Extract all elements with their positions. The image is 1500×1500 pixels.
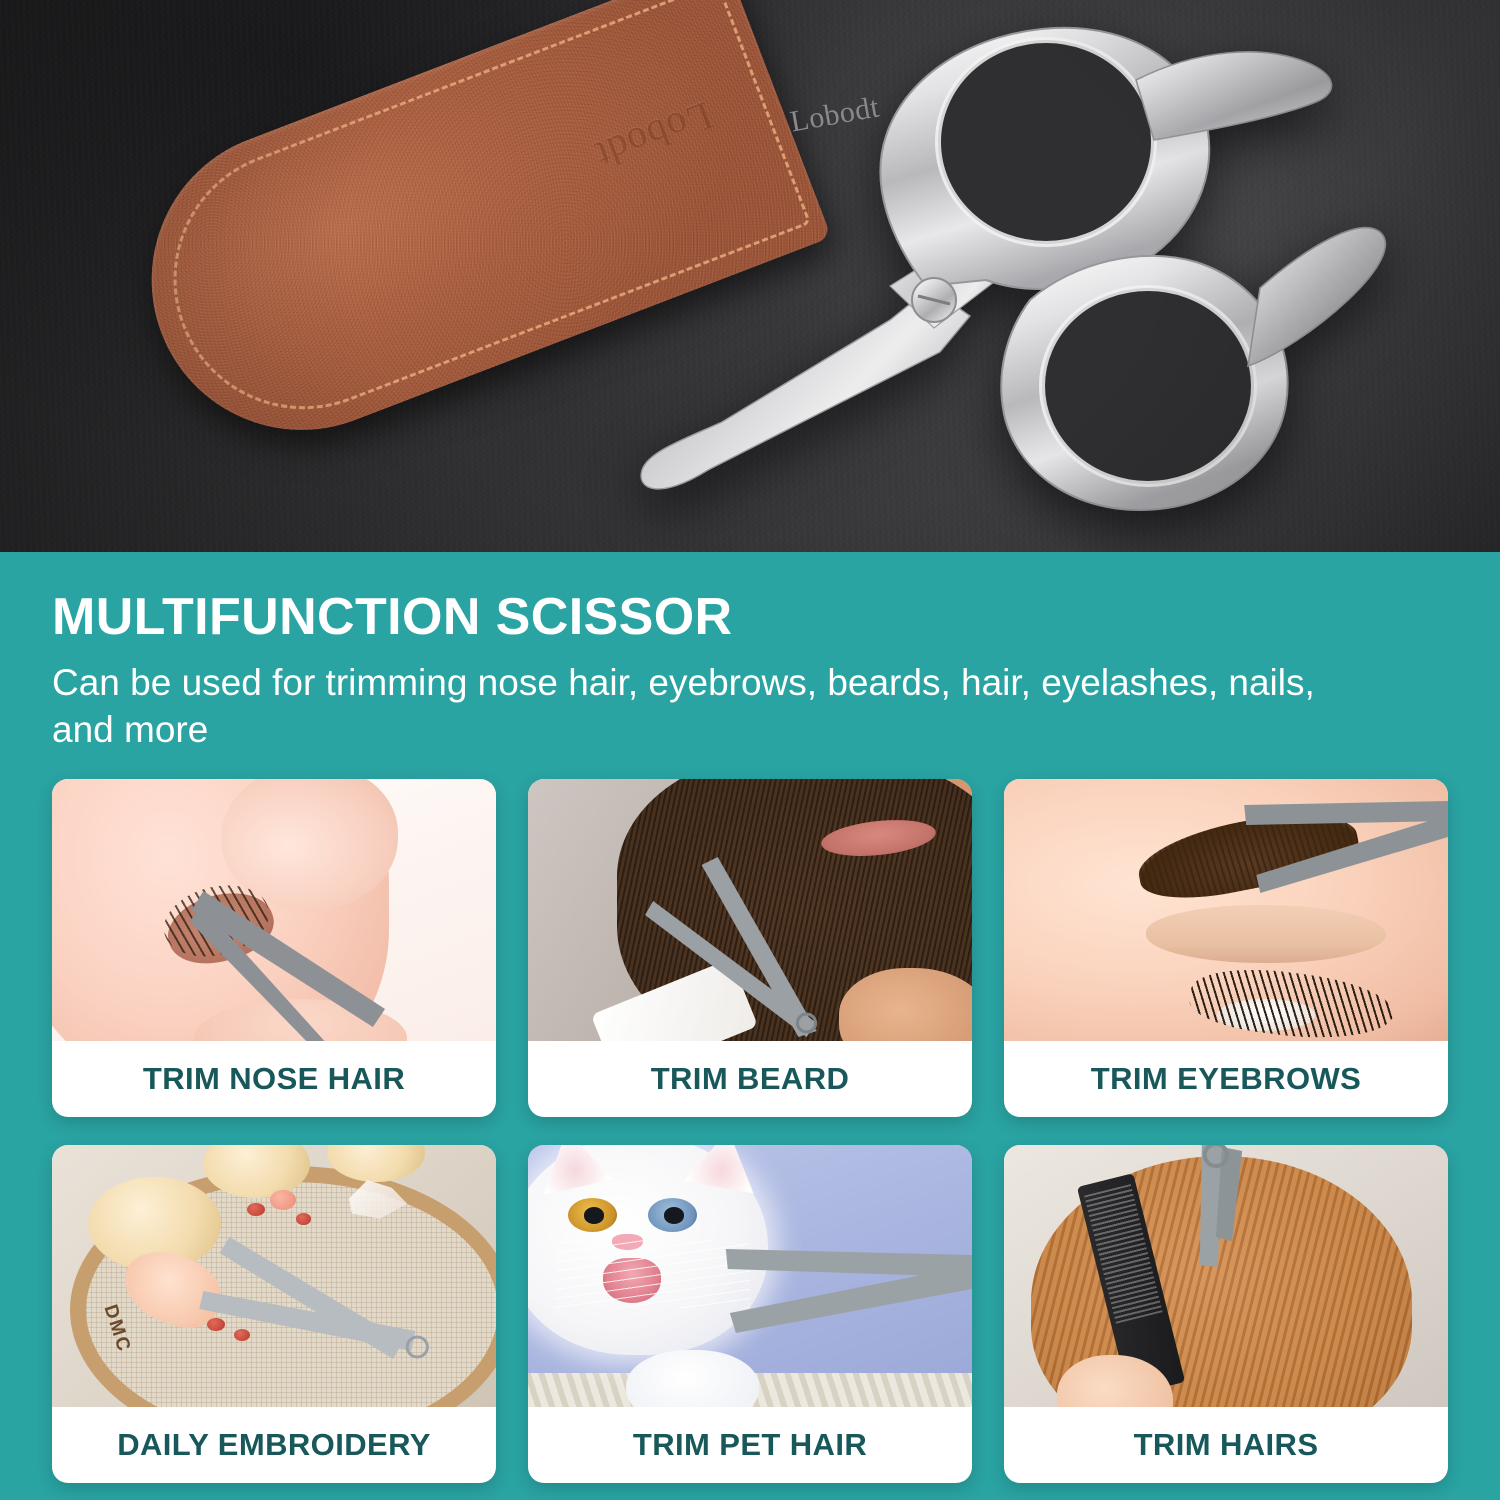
use-case-grid: TRIM NOSE HAIR — [52, 779, 1448, 1483]
page-title: MULTIFUNCTION SCISSOR — [52, 590, 1448, 645]
card-label: DAILY EMBROIDERY — [52, 1407, 496, 1483]
features-panel: MULTIFUNCTION SCISSOR Can be used for tr… — [0, 552, 1500, 1500]
scissor-overlay-icon — [528, 779, 972, 1041]
scissor-overlay-icon — [528, 1145, 972, 1407]
scissor-finial-right — [1248, 228, 1385, 366]
page-subtitle: Can be used for trimming nose hair, eyeb… — [52, 659, 1382, 754]
scissor-overlay-icon — [52, 1145, 496, 1407]
card-photo-cat — [528, 1145, 972, 1407]
use-case-card-trim-nose-hair[interactable]: TRIM NOSE HAIR — [52, 779, 496, 1117]
card-label: TRIM BEARD — [528, 1041, 972, 1117]
use-case-card-trim-beard[interactable]: TRIM BEARD — [528, 779, 972, 1117]
scissors-product — [330, 0, 1390, 550]
card-photo-hair — [1004, 1145, 1448, 1407]
scissor-overlay-icon — [1004, 1145, 1448, 1407]
use-case-card-daily-embroidery[interactable]: DMC DAILY EMBROIDERY — [52, 1145, 496, 1483]
card-photo-beard — [528, 779, 972, 1041]
use-case-card-trim-eyebrows[interactable]: TRIM EYEBROWS — [1004, 779, 1448, 1117]
card-label: TRIM HAIRS — [1004, 1407, 1448, 1483]
card-photo-embroidery: DMC — [52, 1145, 496, 1407]
use-case-card-trim-pet-hair[interactable]: TRIM PET HAIR — [528, 1145, 972, 1483]
use-case-card-trim-hairs[interactable]: TRIM HAIRS — [1004, 1145, 1448, 1483]
card-photo-eyebrow — [1004, 779, 1448, 1041]
hero-product-photo: Lobodt — [0, 0, 1500, 552]
scissor-overlay-icon — [1004, 779, 1448, 1041]
product-infographic: Lobodt — [0, 0, 1500, 1500]
scissor-overlay-icon — [52, 779, 496, 1041]
card-photo-nose — [52, 779, 496, 1041]
card-label: TRIM PET HAIR — [528, 1407, 972, 1483]
card-label: TRIM EYEBROWS — [1004, 1041, 1448, 1117]
card-label: TRIM NOSE HAIR — [52, 1041, 496, 1117]
